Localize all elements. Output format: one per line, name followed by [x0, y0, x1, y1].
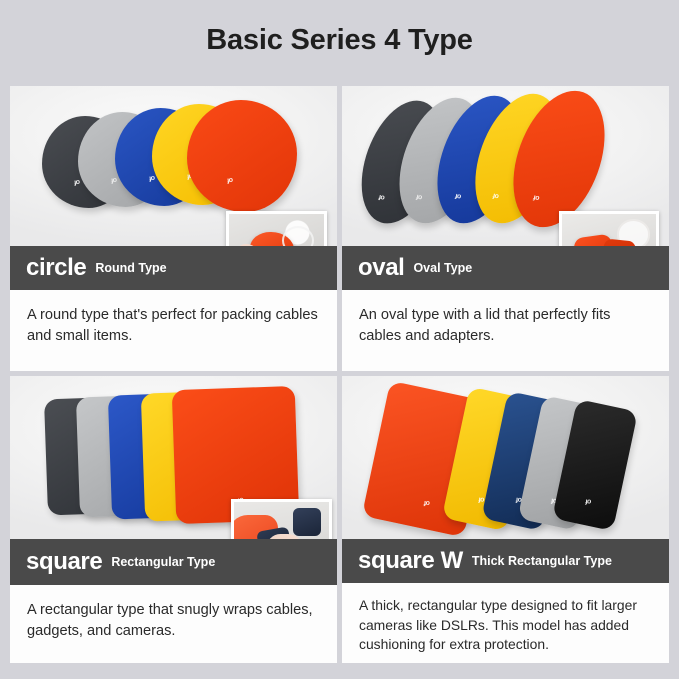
label-bar-square-w: square W Thick Rectangular Type	[342, 539, 669, 583]
product-card-oval[interactable]: ɟo ɟo ɟo ɟo ɟo	[342, 86, 669, 371]
pouch-red: ɟo	[187, 100, 297, 212]
product-card-circle[interactable]: ɟo ɟo ɟo ɟo ɟo	[10, 86, 337, 371]
label-sub-circle: Round Type	[95, 261, 166, 275]
infographic-page: Basic Series 4 Type ɟo ɟo ɟo ɟo ɟo	[0, 0, 679, 679]
product-card-square-w[interactable]: ɟo ɟo ɟo ɟo ɟo square W Thick Rectangula…	[342, 376, 669, 663]
brand-logo-icon: ɟo	[74, 179, 81, 187]
description-square: A rectangular type that snugly wraps cab…	[10, 585, 337, 663]
brand-logo-icon: ɟo	[415, 193, 422, 201]
brand-logo-icon: ɟo	[149, 175, 156, 183]
label-bar-square: square Rectangular Type	[10, 539, 337, 585]
brand-logo-icon: ɟo	[424, 500, 430, 507]
inset-scene	[562, 214, 656, 246]
brand-logo-icon: ɟo	[111, 177, 118, 185]
page-title: Basic Series 4 Type	[0, 24, 679, 57]
brand-logo-icon: ɟo	[227, 177, 234, 185]
label-sub-square: Rectangular Type	[111, 555, 215, 569]
product-photo-circle: ɟo ɟo ɟo ɟo ɟo	[10, 86, 337, 246]
label-main-circle: circle	[26, 256, 86, 280]
label-sub-square-w: Thick Rectangular Type	[472, 554, 612, 568]
inset-scene	[234, 502, 329, 539]
product-card-grid: ɟo ɟo ɟo ɟo ɟo	[10, 86, 669, 669]
product-photo-square: ɟo ɟo ɟo ɟo ɟo	[10, 376, 337, 539]
inset-photo-square	[231, 499, 332, 539]
label-sub-oval: Oval Type	[413, 261, 472, 275]
product-photo-oval: ɟo ɟo ɟo ɟo ɟo	[342, 86, 669, 246]
brand-logo-icon: ɟo	[378, 194, 385, 202]
label-bar-circle: circle Round Type	[10, 246, 337, 290]
product-card-square[interactable]: ɟo ɟo ɟo ɟo ɟo	[10, 376, 337, 663]
product-photo-square-w: ɟo ɟo ɟo ɟo ɟo	[342, 376, 669, 539]
description-square-w: A thick, rectangular type designed to fi…	[342, 583, 669, 663]
label-bar-oval: oval Oval Type	[342, 246, 669, 290]
label-main-oval: oval	[358, 256, 404, 280]
description-oval: An oval type with a lid that perfectly f…	[342, 290, 669, 371]
brand-logo-icon: ɟo	[454, 192, 461, 200]
label-main-square-w: square W	[358, 549, 463, 573]
inset-photo-oval	[559, 211, 659, 246]
brand-logo-icon: ɟo	[492, 192, 499, 200]
label-main-square: square	[26, 550, 102, 574]
brand-logo-icon: ɟo	[585, 498, 591, 505]
inset-scene	[229, 214, 324, 246]
description-circle: A round type that's perfect for packing …	[10, 290, 337, 371]
inset-photo-circle	[226, 211, 327, 246]
brand-logo-icon: ɟo	[533, 194, 540, 202]
